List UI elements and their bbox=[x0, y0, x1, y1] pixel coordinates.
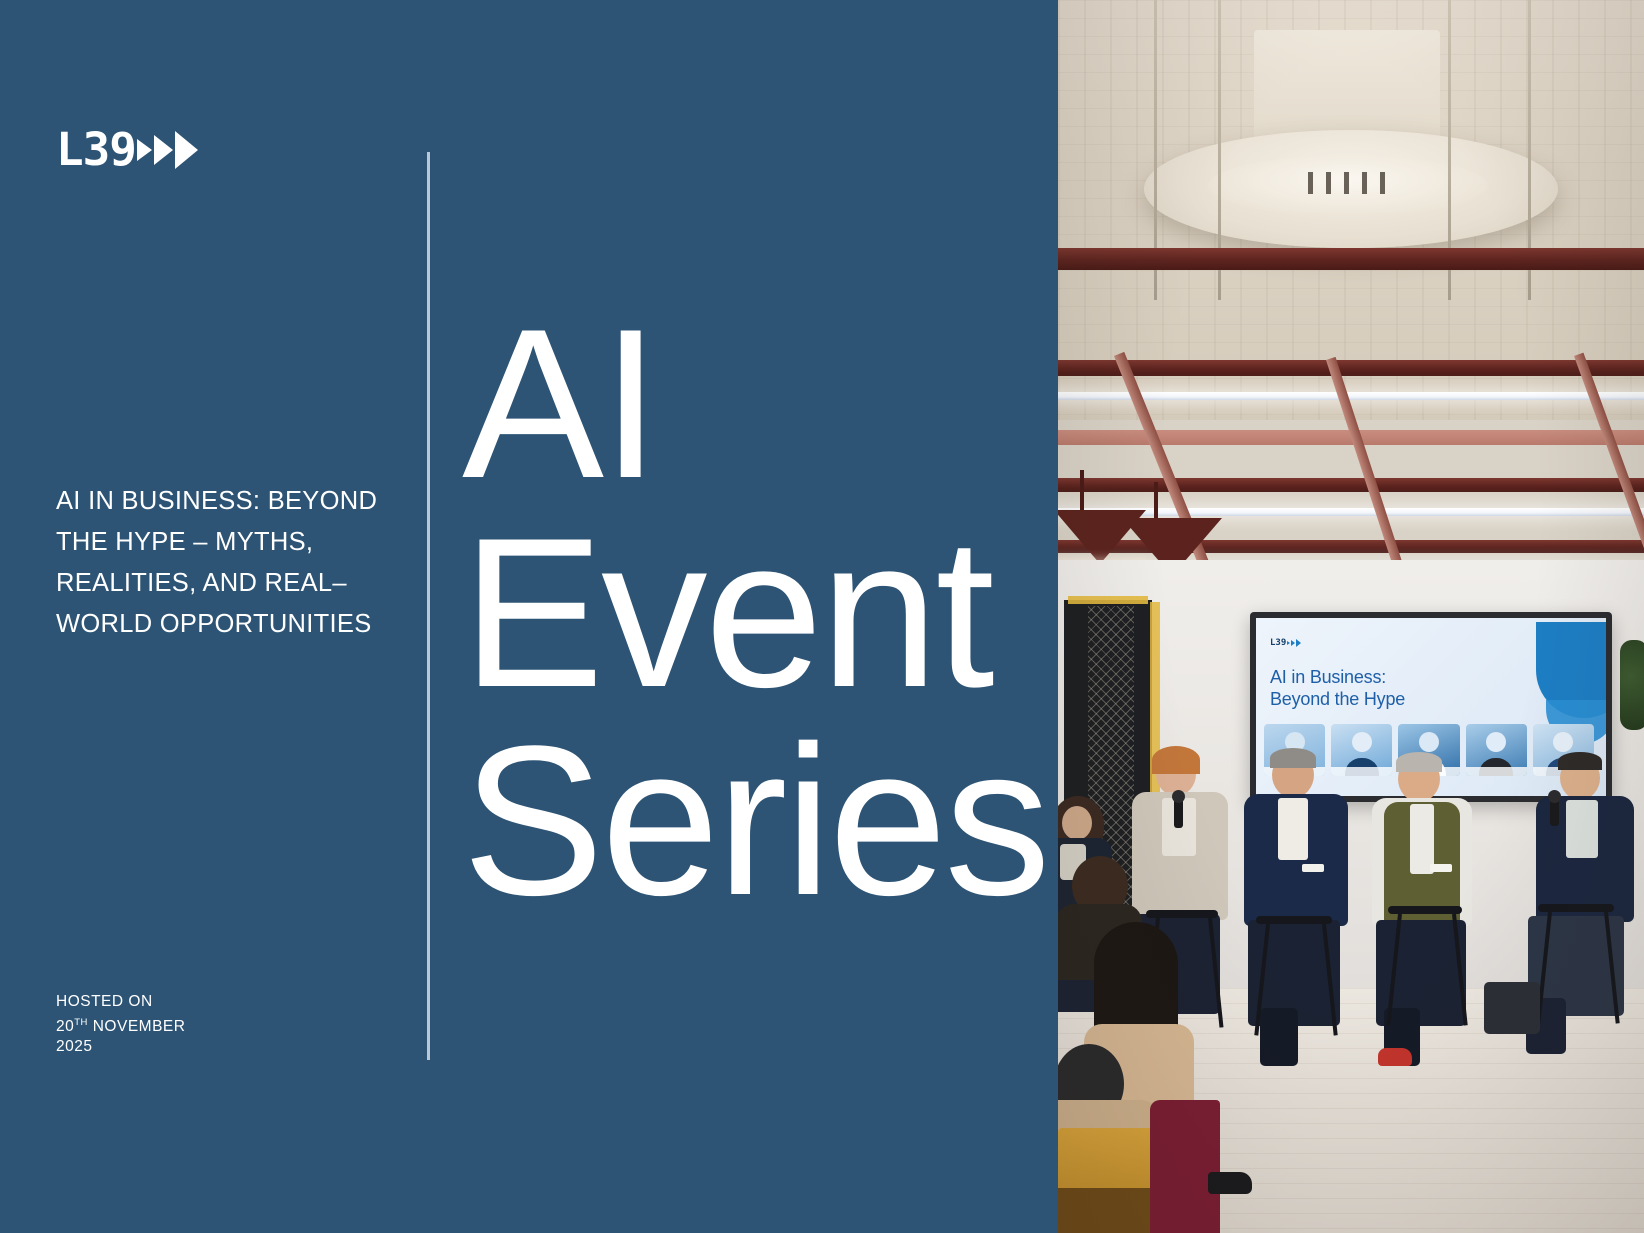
screen-triangle-small-icon bbox=[1287, 641, 1290, 645]
ceiling-beam bbox=[1058, 360, 1644, 376]
event-slide: L39 AI IN BUSINESS: BEYOND THE HYPE – MY… bbox=[0, 0, 1644, 1233]
screen-logo-wordmark: L39 bbox=[1270, 638, 1286, 648]
disc-vent-icon bbox=[1308, 172, 1313, 194]
title-line-3: Series bbox=[462, 717, 1042, 926]
title-line-2: Event bbox=[462, 509, 1042, 718]
screen-triangle-medium-icon bbox=[1291, 640, 1295, 646]
disc-vent-icon bbox=[1326, 172, 1331, 194]
disc-vent-icon bbox=[1380, 172, 1385, 194]
left-content-panel: L39 AI IN BUSINESS: BEYOND THE HYPE – MY… bbox=[0, 0, 1058, 1233]
date-ordinal: TH bbox=[74, 1017, 88, 1028]
pendant-stem bbox=[1080, 470, 1084, 512]
screen-title-line-1: AI in Business: bbox=[1270, 666, 1480, 688]
date-month: NOVEMBER bbox=[93, 1018, 186, 1035]
floor-bag bbox=[1484, 982, 1540, 1034]
date-day: 20 bbox=[56, 1018, 74, 1035]
screen-title: AI in Business: Beyond the Hype bbox=[1270, 666, 1480, 710]
ceiling-beam bbox=[1058, 248, 1644, 270]
hosted-on-day-month: 20TH NOVEMBER bbox=[56, 1013, 185, 1038]
disc-vent-icon bbox=[1362, 172, 1367, 194]
hosted-on-date: HOSTED ON 20TH NOVEMBER 2025 bbox=[56, 992, 185, 1058]
bar-stool bbox=[1146, 910, 1218, 918]
title-line-1: AI bbox=[462, 300, 1042, 509]
vertical-divider bbox=[427, 152, 430, 1060]
bar-stool bbox=[1388, 906, 1462, 914]
mesh-accent-bar bbox=[1068, 596, 1148, 604]
pendant-stem bbox=[1154, 482, 1158, 520]
bar-stool bbox=[1538, 904, 1614, 912]
triangle-medium-icon bbox=[154, 135, 173, 165]
screen-l39-logo: L39 bbox=[1270, 638, 1301, 648]
event-subtitle: AI IN BUSINESS: BEYOND THE HYPE – MYTHS,… bbox=[56, 481, 406, 645]
event-photo: L39 AI in Business: Beyond the Hype bbox=[1058, 0, 1644, 1233]
page-title: AI Event Series bbox=[462, 300, 1042, 926]
ceiling-beam bbox=[1058, 478, 1644, 492]
triangle-large-icon bbox=[175, 131, 198, 169]
panelist bbox=[1244, 752, 1362, 1062]
logo-wordmark: L39 bbox=[56, 128, 136, 172]
audience-coat bbox=[1150, 1100, 1220, 1233]
plant bbox=[1620, 640, 1644, 730]
triangle-small-icon bbox=[137, 139, 152, 161]
hosted-on-label: HOSTED ON bbox=[56, 992, 185, 1013]
disc-vent-icon bbox=[1344, 172, 1349, 194]
screen-title-line-2: Beyond the Hype bbox=[1270, 688, 1480, 710]
strip-light bbox=[1058, 392, 1644, 400]
l39-logo[interactable]: L39 bbox=[56, 128, 198, 172]
date-year: 2025 bbox=[56, 1037, 185, 1058]
audience-shoe bbox=[1208, 1172, 1252, 1194]
screen-triangle-large-icon bbox=[1296, 639, 1301, 647]
bar-stool bbox=[1256, 916, 1332, 924]
